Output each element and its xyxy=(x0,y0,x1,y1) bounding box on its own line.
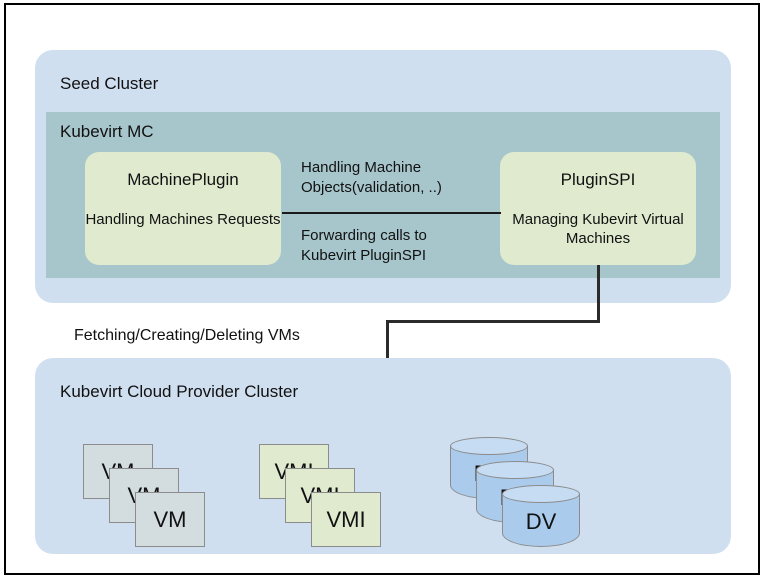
machine-plugin-box: MachinePlugin Handling Machines Requests xyxy=(85,152,281,265)
seed-cluster-title: Seed Cluster xyxy=(60,74,158,94)
seed-cluster-container: Seed Cluster Kubevirt MC MachinePlugin H… xyxy=(35,50,731,303)
relation-label-bottom: Forwarding calls to Kubevirt PluginSPI xyxy=(301,226,427,266)
vmi-stack: VMI VMI VMI xyxy=(259,444,384,549)
connector-segment-vertical-right xyxy=(597,265,600,323)
cylinder-top-ellipse xyxy=(502,485,580,503)
kubevirt-mc-title: Kubevirt MC xyxy=(60,122,154,142)
dv-label: DV xyxy=(502,509,580,535)
plugin-spi-subtitle: Managing Kubevirt Virtual Machines xyxy=(500,210,696,248)
dv-stack: DV DV DV xyxy=(450,437,585,549)
plugin-spi-title: PluginSPI xyxy=(561,170,636,190)
machine-plugin-subtitle: Handling Machines Requests xyxy=(85,210,280,229)
machine-plugin-title: MachinePlugin xyxy=(127,170,239,190)
dv-cylinder: DV xyxy=(502,485,580,547)
cylinder-top-ellipse xyxy=(476,461,554,479)
cylinder-top-ellipse xyxy=(450,437,528,455)
relation-divider xyxy=(282,212,501,214)
connector-segment-horizontal xyxy=(386,320,598,323)
vmi-card: VMI xyxy=(311,492,381,547)
kubevirt-mc-container: Kubevirt MC MachinePlugin Handling Machi… xyxy=(46,112,720,278)
diagram-canvas: Seed Cluster Kubevirt MC MachinePlugin H… xyxy=(0,0,764,586)
plugin-spi-box: PluginSPI Managing Kubevirt Virtual Mach… xyxy=(500,152,696,265)
connector-segment-vertical-left xyxy=(386,320,389,360)
connector-label: Fetching/Creating/Deleting VMs xyxy=(74,327,300,345)
relation-label-top: Handling Machine Objects(validation, ..) xyxy=(301,158,442,198)
vm-stack: VM VM VM xyxy=(83,444,208,549)
provider-cluster-title: Kubevirt Cloud Provider Cluster xyxy=(60,382,298,402)
vm-card: VM xyxy=(135,492,205,547)
